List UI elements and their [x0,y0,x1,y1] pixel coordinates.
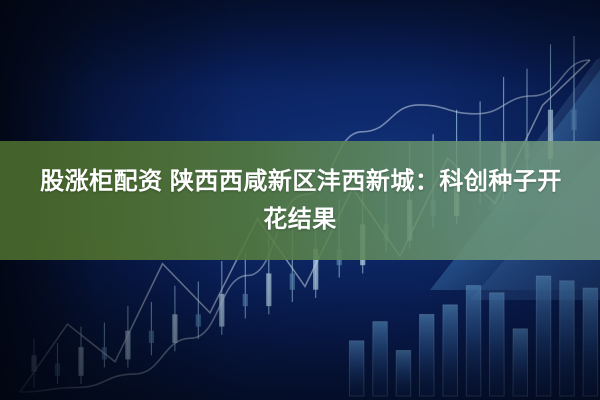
page-title-line-2: 花结果 [263,201,337,239]
page-title-line-1: 股涨柜配资 陕西西咸新区沣西新城：科创种子开 [38,163,562,201]
banner-image: 股涨柜配资 陕西西咸新区沣西新城：科创种子开 花结果 [0,0,600,400]
title-band: 股涨柜配资 陕西西咸新区沣西新城：科创种子开 花结果 [0,141,600,260]
